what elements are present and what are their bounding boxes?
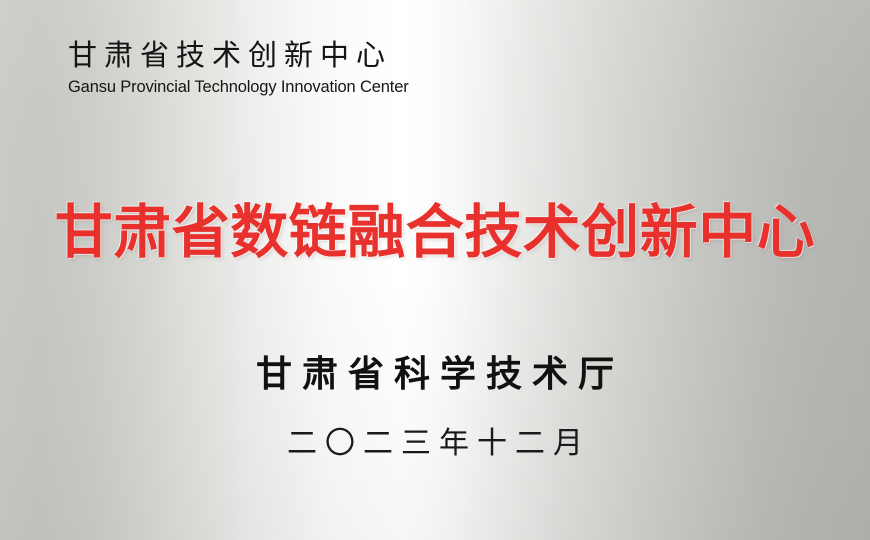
issuing-authority: 甘肃省科学技术厅 xyxy=(0,352,870,398)
organization-header: 甘肃省技术创新中心 Gansu Provincial Technology In… xyxy=(68,38,409,97)
plaque-sign: 甘肃省技术创新中心 Gansu Provincial Technology In… xyxy=(0,0,870,540)
organization-name-chinese: 甘肃省技术创新中心 xyxy=(68,38,409,72)
main-title: 甘肃省数链融合技术创新中心 xyxy=(0,196,870,268)
organization-name-english: Gansu Provincial Technology Innovation C… xyxy=(68,77,409,97)
issue-date: 二〇二三年十二月 xyxy=(0,424,870,464)
